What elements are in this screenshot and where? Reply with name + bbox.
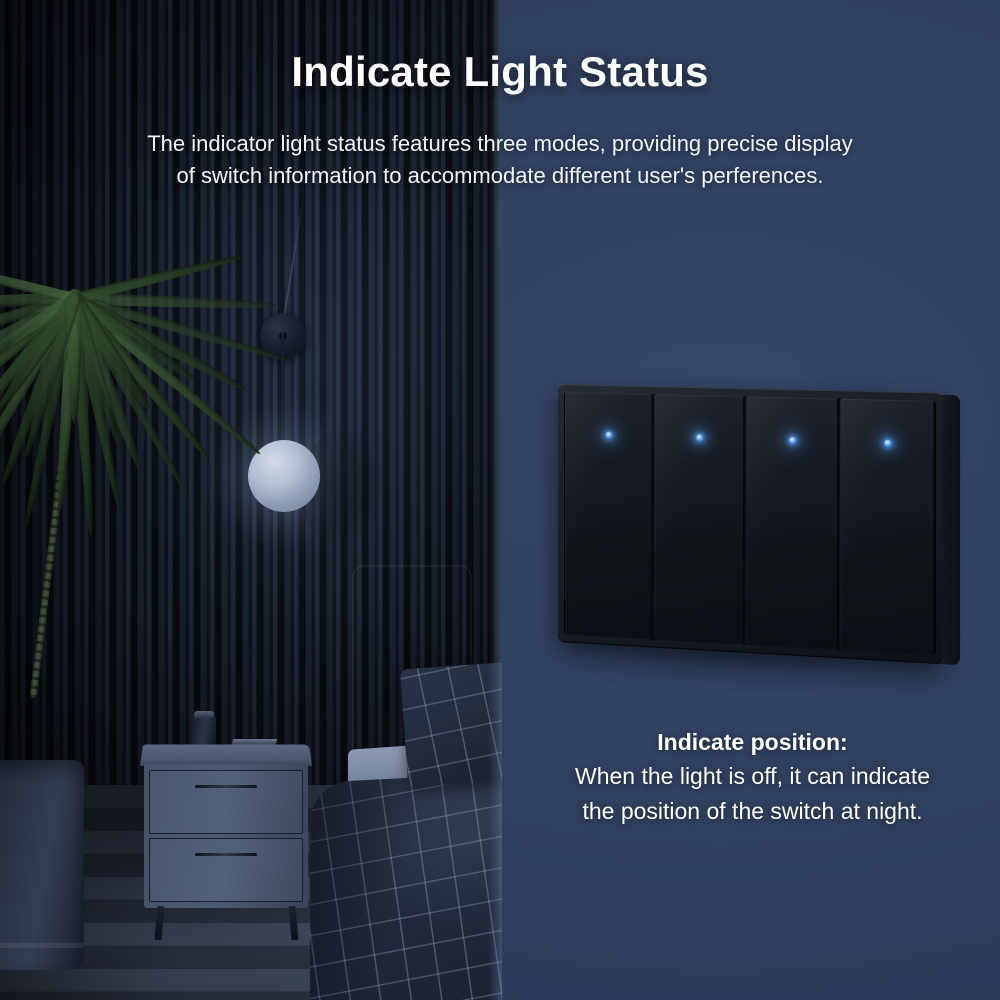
- bed: [300, 565, 502, 1000]
- nightstand-drawer-2: [149, 838, 303, 902]
- nightstand-top: [140, 744, 312, 766]
- caption-line-2: the position of the switch at night.: [505, 794, 1000, 829]
- switch-body: [558, 384, 942, 664]
- subtitle-line-1: The indicator light status features thre…: [50, 128, 950, 160]
- decor-jar: [192, 716, 216, 748]
- nightstand-body: [144, 764, 308, 908]
- subtitle-line-2: of switch information to accommodate dif…: [50, 160, 950, 192]
- switch-gang-1[interactable]: [565, 392, 653, 639]
- promo-image: Indicate Light Status The indicator ligh…: [0, 0, 1000, 1000]
- switch-bezel-frame: [558, 384, 942, 664]
- pillow: [400, 661, 502, 788]
- drawer-handle-icon: [195, 853, 257, 856]
- page-title: Indicate Light Status: [0, 48, 1000, 96]
- dracaena-plant: [0, 105, 248, 705]
- nightstand: [140, 742, 312, 932]
- led-indicator-icon: [696, 434, 703, 441]
- planter-pot: [0, 760, 84, 970]
- duvet: [310, 771, 502, 1000]
- page-subtitle: The indicator light status features thre…: [50, 128, 950, 192]
- switch-gang-2[interactable]: [655, 394, 745, 644]
- led-indicator-icon: [788, 437, 795, 444]
- wall-switch-device: [556, 378, 936, 678]
- led-indicator-icon: [883, 439, 891, 447]
- nightstand-drawer-1: [149, 770, 303, 834]
- pillow-check-pattern: [400, 661, 502, 788]
- caption-heading: Indicate position:: [505, 726, 1000, 759]
- switch-gang-3[interactable]: [746, 396, 838, 649]
- feature-caption: Indicate position: When the light is off…: [505, 726, 1000, 829]
- duvet-shading: [310, 771, 502, 1000]
- switch-gang-4[interactable]: [840, 399, 934, 656]
- led-indicator-icon: [605, 431, 612, 438]
- switch-gang-row: [564, 392, 936, 655]
- caption-line-1: When the light is off, it can indicate: [505, 759, 1000, 794]
- drawer-handle-icon: [195, 785, 257, 788]
